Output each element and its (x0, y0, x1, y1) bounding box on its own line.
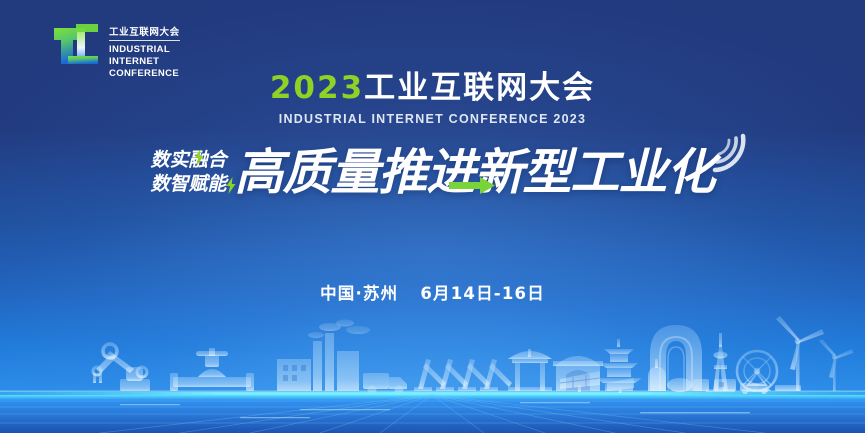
green-arrow-icon (449, 177, 495, 194)
tv-tower-icon (706, 333, 735, 392)
title-chinese: 工业互联网大会 (364, 70, 595, 106)
factory-chimneys-icon (277, 320, 370, 392)
gate-of-the-orient-icon (650, 325, 702, 391)
conference-banner: 工业互联网大会 INDUSTRIAL INTERNET CONFERENCE 2… (0, 0, 865, 433)
slogan-main: 高质量推进新型工业化 (235, 148, 715, 197)
industrial-skyline (0, 293, 865, 433)
ferris-wheel-icon (737, 351, 777, 392)
logo-mark-icon (52, 20, 100, 72)
warehouse-icon (553, 356, 603, 391)
pagoda-icon (596, 339, 642, 391)
slogan-block: 数实融合 数智赋能 高质量推进新型工业化 (0, 148, 865, 197)
robot-arm-icon (93, 344, 150, 391)
logo-chinese-name: 工业互联网大会 (109, 28, 180, 41)
logo-en-line-1: INDUSTRIAL (109, 44, 180, 56)
wifi-signal-icon (705, 130, 749, 174)
slogan-small-line-1: 数实融合 (150, 150, 226, 171)
lightning-bolt-icon (194, 149, 204, 166)
page-title: 2023工业互联网大会 (0, 72, 865, 105)
title-block: 2023工业互联网大会 INDUSTRIAL INTERNET CONFEREN… (0, 72, 865, 126)
pavilion-icon (508, 349, 552, 391)
logo-en-line-2: INTERNET (109, 56, 180, 68)
wind-turbine-icon (776, 316, 853, 391)
oil-pumpjacks-icon (414, 359, 512, 391)
skyline-silhouettes (93, 320, 777, 395)
title-subtitle: INDUSTRIAL INTERNET CONFERENCE 2023 (0, 112, 865, 126)
slogan-small-line-2: 数智赋能 (150, 174, 226, 195)
slogan-secondary: 数实融合 数智赋能 (150, 150, 226, 194)
title-year: 2023 (270, 70, 364, 106)
conference-logo: 工业互联网大会 INDUSTRIAL INTERNET CONFERENCE (52, 20, 180, 80)
pipe-valve-icon (170, 348, 254, 391)
